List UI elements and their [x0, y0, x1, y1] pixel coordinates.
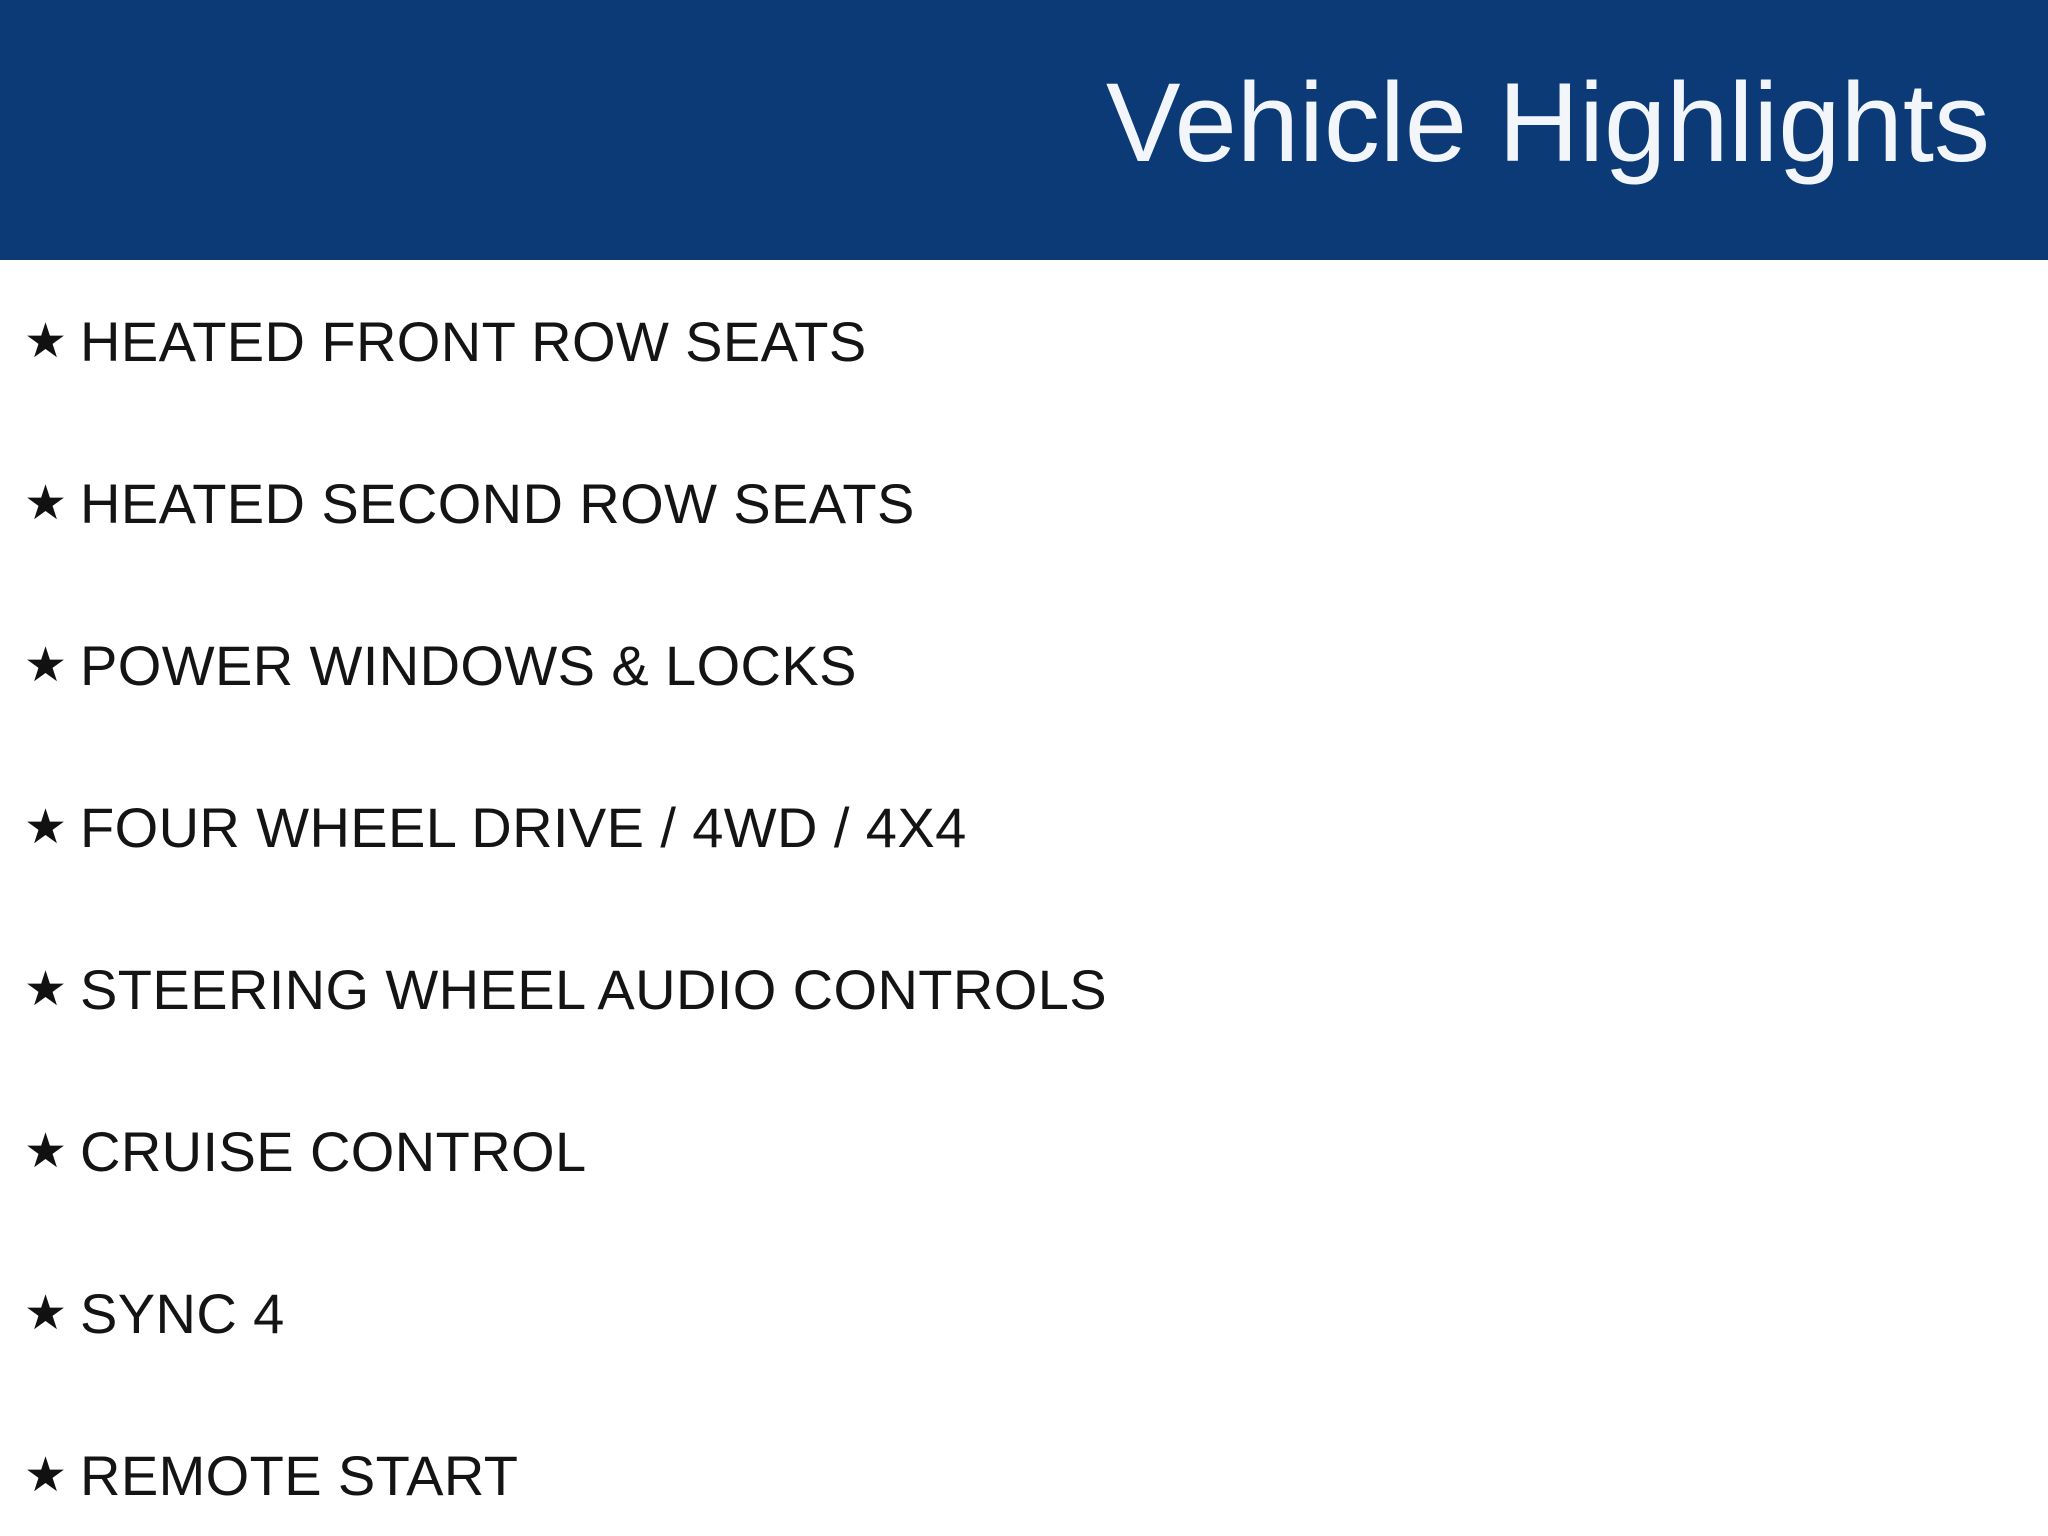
- list-item: ★ REMOTE START: [0, 1394, 2048, 1536]
- page-title: Vehicle Highlights: [1106, 67, 1990, 193]
- page-header: Vehicle Highlights: [0, 0, 2048, 260]
- list-item: ★ STEERING WHEEL AUDIO CONTROLS: [0, 908, 2048, 1070]
- list-item: ★ HEATED FRONT ROW SEATS: [0, 260, 2048, 422]
- list-item: ★ POWER WINDOWS & LOCKS: [0, 584, 2048, 746]
- highlight-label: HEATED FRONT ROW SEATS: [80, 309, 2048, 374]
- star-icon: ★: [24, 965, 80, 1013]
- star-icon: ★: [24, 1289, 80, 1337]
- highlight-label: FOUR WHEEL DRIVE / 4WD / 4X4: [80, 795, 2048, 860]
- list-item: ★ SYNC 4: [0, 1232, 2048, 1394]
- star-icon: ★: [24, 1451, 80, 1499]
- list-item: ★ FOUR WHEEL DRIVE / 4WD / 4X4: [0, 746, 2048, 908]
- highlight-label: HEATED SECOND ROW SEATS: [80, 471, 2048, 536]
- star-icon: ★: [24, 641, 80, 689]
- star-icon: ★: [24, 1127, 80, 1175]
- highlight-label: POWER WINDOWS & LOCKS: [80, 633, 2048, 698]
- star-icon: ★: [24, 479, 80, 527]
- highlight-label: STEERING WHEEL AUDIO CONTROLS: [80, 957, 2048, 1022]
- vehicle-highlights-page: Vehicle Highlights ★ HEATED FRONT ROW SE…: [0, 0, 2048, 1536]
- vehicle-highlights-list: ★ HEATED FRONT ROW SEATS ★ HEATED SECOND…: [0, 260, 2048, 1536]
- highlight-label: CRUISE CONTROL: [80, 1119, 2048, 1184]
- list-item: ★ HEATED SECOND ROW SEATS: [0, 422, 2048, 584]
- star-icon: ★: [24, 803, 80, 851]
- highlight-label: REMOTE START: [80, 1443, 2048, 1508]
- list-item: ★ CRUISE CONTROL: [0, 1070, 2048, 1232]
- highlight-label: SYNC 4: [80, 1281, 2048, 1346]
- star-icon: ★: [24, 317, 80, 365]
